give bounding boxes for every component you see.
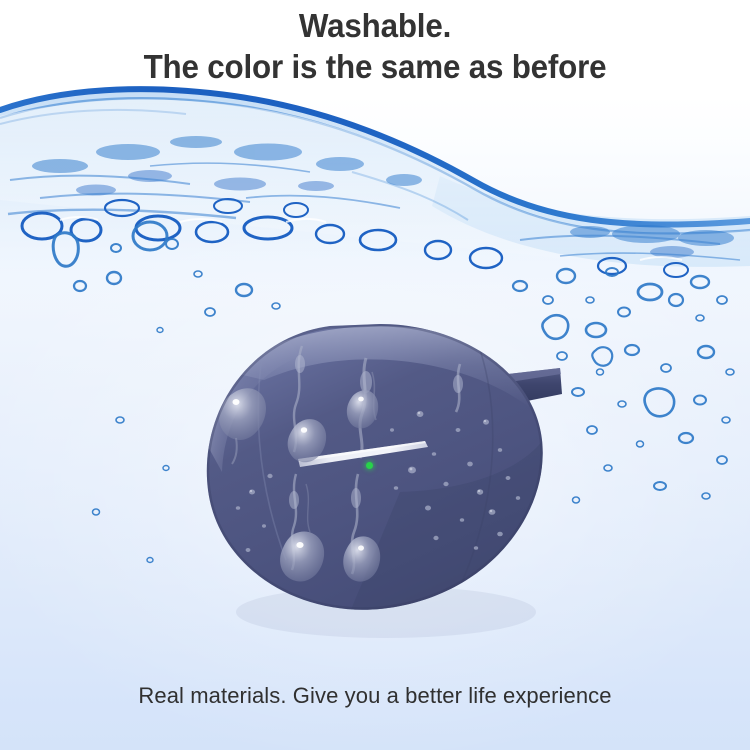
tagline-text: Real materials. Give you a better life e… — [0, 683, 750, 709]
headline-block: Washable. The color is the same as befor… — [0, 8, 750, 86]
headline-line-1: Washable. — [19, 8, 732, 45]
led-indicator-icon — [366, 462, 373, 469]
product-marketing-banner: Washable. The color is the same as befor… — [0, 0, 750, 750]
headline-line-2: The color is the same as before — [19, 49, 732, 86]
product-image — [190, 312, 570, 642]
